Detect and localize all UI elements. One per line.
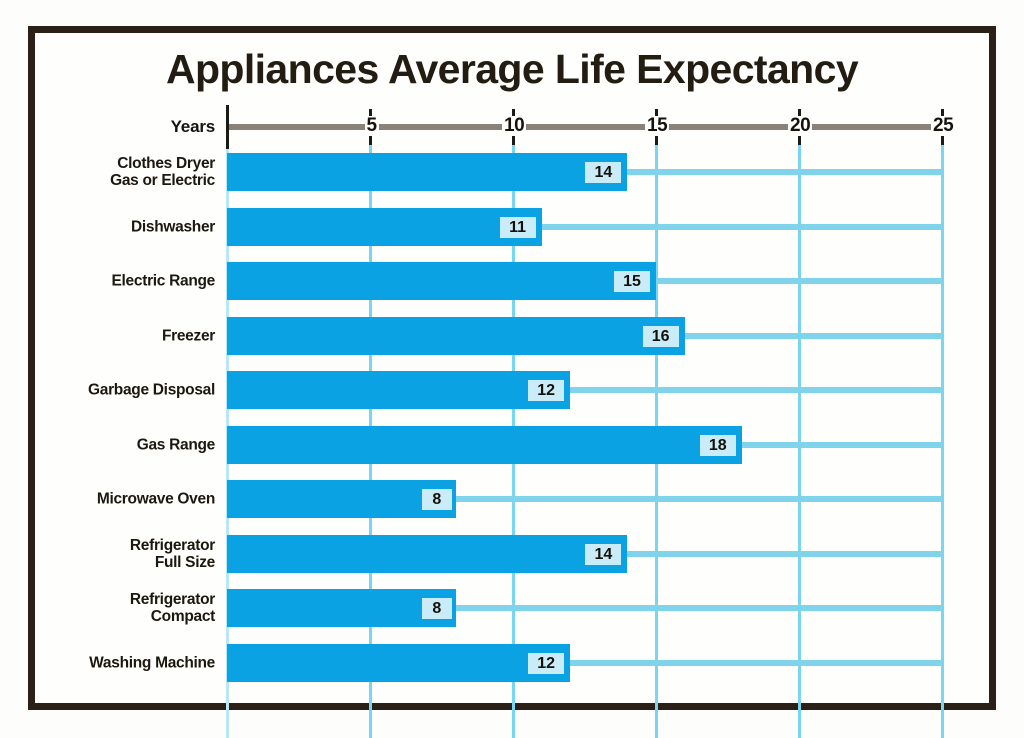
bar-value-label: 12 [528, 653, 564, 674]
bar-row-label: Clothes Dryer Gas or Electric [55, 155, 215, 189]
bar-row-label: Refrigerator Compact [55, 591, 215, 625]
bar-row-label: Washing Machine [55, 654, 215, 671]
bar[interactable] [227, 317, 685, 355]
bar-value-label: 14 [585, 544, 621, 565]
bar-row[interactable]: Gas Range18 [0, 425, 1024, 465]
bar[interactable] [227, 371, 570, 409]
bar-row[interactable]: Garbage Disposal12 [0, 370, 1024, 410]
bar-value-label: 14 [585, 162, 621, 183]
bar[interactable] [227, 644, 570, 682]
bar-value-label: 12 [528, 380, 564, 401]
bar-value-label: 15 [614, 271, 650, 292]
bar-row-label: Garbage Disposal [55, 382, 215, 399]
bar-row[interactable]: Electric Range15 [0, 261, 1024, 301]
bar[interactable] [227, 262, 656, 300]
bar-row-label: Microwave Oven [55, 491, 215, 508]
bar-row[interactable]: Refrigerator Full Size14 [0, 534, 1024, 574]
bar-rows-group: Clothes Dryer Gas or Electric14Dishwashe… [0, 0, 1024, 738]
bar-row[interactable]: Microwave Oven8 [0, 479, 1024, 519]
chart-page: Appliances Average Life Expectancy 51015… [0, 0, 1024, 738]
bar-row-label: Freezer [55, 327, 215, 344]
bar-row[interactable]: Dishwasher11 [0, 207, 1024, 247]
bar-row[interactable]: Washing Machine12 [0, 643, 1024, 683]
bar-row-label: Gas Range [55, 436, 215, 453]
bar-row[interactable]: Refrigerator Compact8 [0, 588, 1024, 628]
bar-value-label: 18 [700, 435, 736, 456]
bar[interactable] [227, 426, 742, 464]
bar-row-label: Dishwasher [55, 218, 215, 235]
bar-value-label: 8 [422, 598, 452, 619]
bar-row[interactable]: Freezer16 [0, 316, 1024, 356]
bar[interactable] [227, 535, 627, 573]
bar[interactable] [227, 208, 542, 246]
bar-value-label: 8 [422, 489, 452, 510]
bar[interactable] [227, 153, 627, 191]
bar-row-label: Refrigerator Full Size [55, 537, 215, 571]
bar-row[interactable]: Clothes Dryer Gas or Electric14 [0, 152, 1024, 192]
bar-value-label: 16 [643, 326, 679, 347]
bar-row-label: Electric Range [55, 273, 215, 290]
bar-value-label: 11 [500, 217, 536, 238]
